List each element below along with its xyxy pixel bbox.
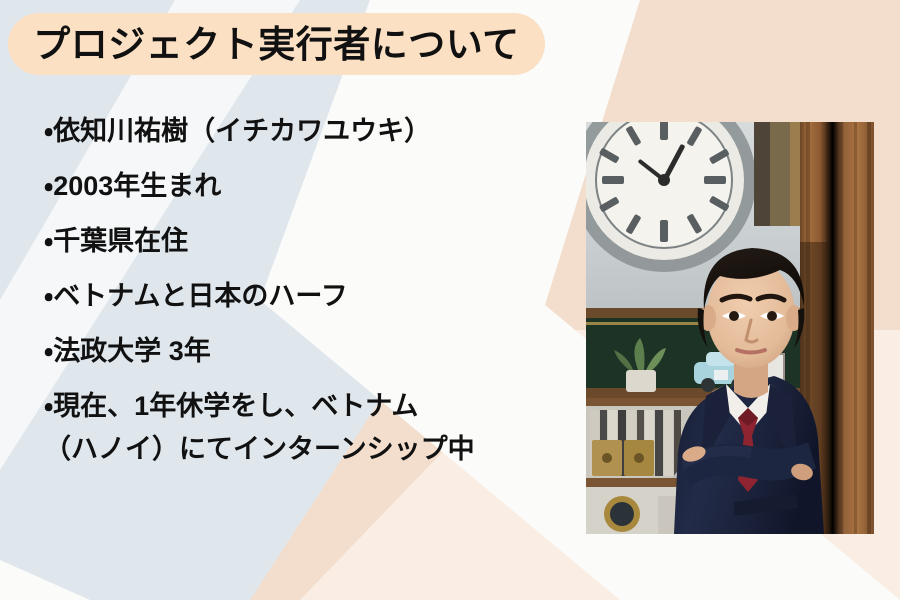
bullet-marker: ・ [44, 336, 53, 366]
bullet-marker: ・ [44, 226, 53, 256]
list-item: ・現在、1年休学をし、ベトナム [44, 393, 564, 420]
bullet-text: ベトナムと日本のハーフ [53, 281, 348, 311]
bullet-text: （ハノイ）にてインターンシップ中 [44, 434, 475, 464]
bullet-marker: ・ [44, 116, 53, 146]
bullet-marker: ・ [44, 391, 53, 421]
list-item: ・千葉県在住 [44, 228, 564, 255]
bullet-text: 2003年生まれ [53, 171, 221, 201]
slide-canvas: プロジェクト実行者について ・依知川祐樹（イチカワユウキ） ・2003年生まれ … [0, 0, 900, 600]
profile-bullet-list: ・依知川祐樹（イチカワユウキ） ・2003年生まれ ・千葉県在住 ・ベトナムと日… [44, 118, 564, 463]
bullet-text: 千葉県在住 [53, 226, 188, 256]
bullet-marker: ・ [44, 281, 53, 311]
bullet-marker: ・ [44, 171, 53, 201]
bullet-text: 現在、1年休学をし、ベトナム [53, 391, 418, 421]
bullet-text: 依知川祐樹（イチカワユウキ） [53, 116, 431, 146]
bullet-text: 法政大学 3年 [53, 336, 211, 366]
list-item-continuation: （ハノイ）にてインターンシップ中 [44, 436, 564, 463]
list-item: ・法政大学 3年 [44, 338, 564, 365]
portrait-photo [586, 122, 874, 534]
list-item: ・ベトナムと日本のハーフ [44, 283, 564, 310]
list-item: ・2003年生まれ [44, 173, 564, 200]
title-badge: プロジェクト実行者について [8, 13, 545, 75]
list-item: ・依知川祐樹（イチカワユウキ） [44, 118, 564, 145]
page-title: プロジェクト実行者について [33, 26, 519, 63]
